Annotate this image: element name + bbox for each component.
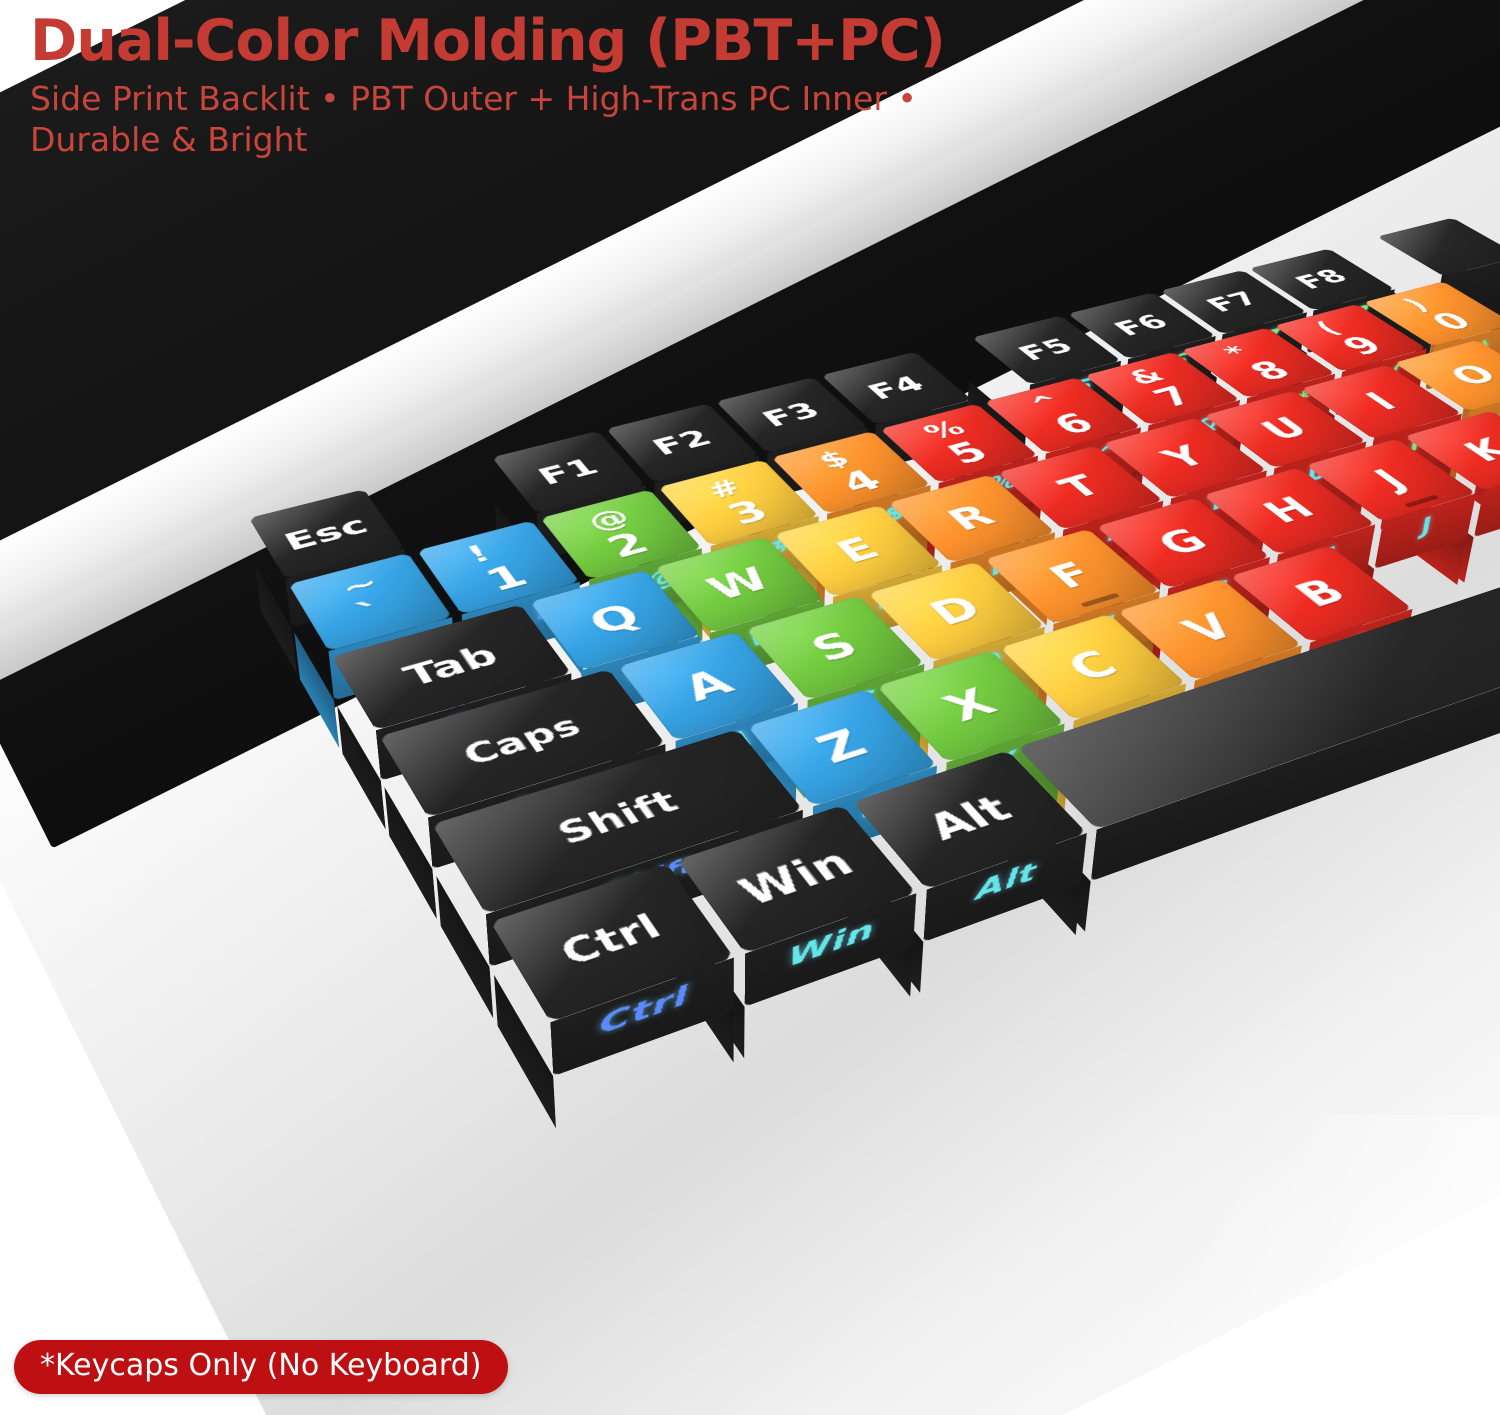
keycap-top-legend: *8 (1218, 340, 1298, 384)
keycap-top-legend: R (940, 500, 1001, 535)
keycap-side-legend: J (1419, 513, 1434, 538)
keycap-top-legend: O (1442, 360, 1500, 389)
keycap-ctrl[interactable]: CtrlCtrl (494, 916, 734, 1077)
keycap-top-legend: $4 (813, 446, 889, 498)
keycap-top-legend: F7 (1201, 288, 1266, 314)
keycap-top-legend: F (1041, 557, 1102, 593)
keycap-base-legend: 4 (831, 464, 890, 500)
keycap-base-legend: 2 (598, 525, 657, 564)
keycap-top-legend: @2 (582, 505, 659, 563)
keycap-top-legend: &7 (1123, 365, 1202, 411)
keycap-top-legend: Shift (552, 786, 684, 849)
keycap-top-legend: Alt (919, 790, 1019, 845)
keycap-top-legend: Win (731, 843, 860, 911)
keycap-top-legend: Ctrl (555, 909, 668, 971)
keycap-top-legend: W (700, 562, 778, 604)
keycap-top-legend: K (1456, 434, 1500, 466)
keycap-top-legend: V (1175, 608, 1244, 648)
keycap-top-legend: Tab (398, 640, 503, 691)
keycap-top-legend: C (1059, 645, 1126, 687)
keycap-top-legend: Y (1155, 441, 1214, 472)
keycap-base-legend: 7 (1144, 381, 1204, 413)
page-title: Dual-Color Molding (PBT+PC) (30, 12, 1000, 71)
keycap-top-legend: S (803, 626, 866, 666)
keycap-top-legend: Esc (279, 512, 372, 554)
keycap-top-legend: F4 (862, 373, 930, 403)
keycap-base-legend: ` (350, 594, 398, 634)
keycap-base-legend: 1 (477, 557, 535, 598)
keyboard-3d-scene: EscEscF1F1F2F2F3F3F4F4F5F5F6F6F7F7F8F8` … (0, 0, 1500, 1415)
keycap-top-legend: B (1286, 573, 1354, 611)
keycap-top-legend: F8 (1290, 266, 1354, 291)
headline-subtitle: Side Print Backlit • PBT Outer + High-Tr… (30, 79, 1000, 160)
keycap-grid: EscEscF1F1F2F2F3F3F4F4F5F5F6F6F7F7F8F8` … (255, 187, 1500, 1335)
keycap-top-legend: %5 (918, 417, 999, 468)
keycap-top-legend: F6 (1108, 311, 1173, 338)
keycap-top-legend: Z (808, 723, 875, 769)
headline-block: Dual-Color Molding (PBT+PC) Side Print B… (30, 12, 1000, 160)
keycap-top-legend: F3 (757, 399, 826, 430)
keycap-top-legend: (9 (1310, 316, 1390, 359)
keycap-top-legend: E (829, 532, 887, 567)
keycap-top-legend: #3 (701, 475, 776, 529)
status-badge: *Keycaps Only (No Keyboard) (14, 1340, 508, 1394)
keycap-top-legend: A (675, 663, 741, 706)
keycap-base-legend: 5 (938, 435, 998, 470)
keycap-top-legend: U (1253, 413, 1315, 444)
keycap-top-legend: Caps (458, 712, 586, 770)
keycap-base-legend: 0 (1422, 307, 1482, 335)
keycap-top-legend: F2 (647, 426, 717, 458)
product-image-stage: EscEscF1F1F2F2F3F3F4F4F5F5F6F6F7F7F8F8` … (0, 0, 1500, 1415)
keycap-top-legend: D (922, 590, 990, 630)
keycap-base-legend: 9 (1333, 331, 1393, 360)
keycap-top-legend: )0 (1399, 293, 1480, 334)
keycap-base-legend: 8 (1240, 355, 1300, 386)
keycap-top-legend: !1 (462, 537, 534, 596)
keycap-top-legend: H (1255, 492, 1322, 527)
keycap-top-legend: ^6 (1023, 391, 1101, 439)
keycap-base-legend: 6 (1044, 407, 1104, 440)
keycap-base-legend: 3 (718, 494, 777, 532)
keycap-top-legend: I (1358, 388, 1404, 413)
keycap-top-legend: Q (582, 598, 648, 639)
keycap-top-legend: F1 (533, 454, 603, 488)
keycap-top-legend: G (1149, 523, 1216, 560)
keycap-top-legend: T (1051, 470, 1109, 502)
keycap-top-legend: F5 (1013, 335, 1079, 363)
keycap-top-legend: X (935, 683, 1004, 727)
keycap-top-legend: J (1366, 465, 1414, 493)
keycap-top-legend: ~` (336, 570, 404, 631)
